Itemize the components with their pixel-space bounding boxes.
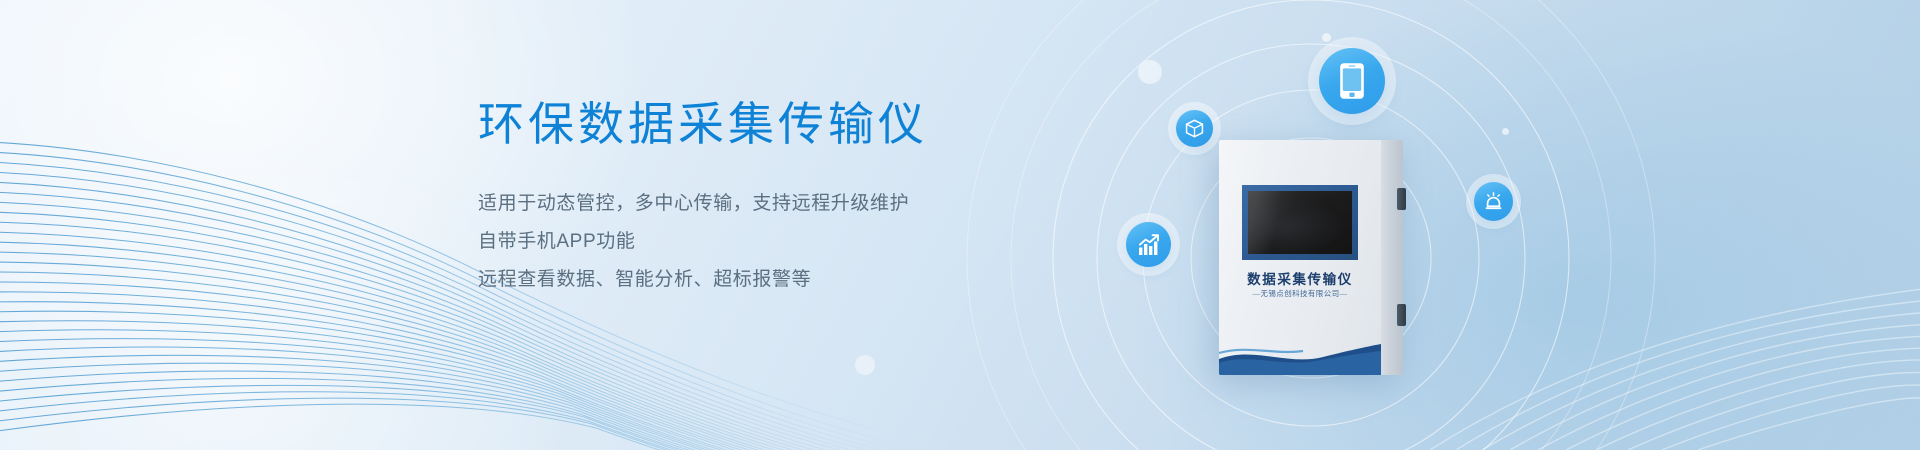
page-title: 环保数据采集传输仪 — [478, 96, 1238, 152]
device-enclosure: 数据采集传输仪 —无锡点创科技有限公司— — [1219, 140, 1403, 375]
decorative-dot — [1502, 128, 1509, 135]
device-brand-label: 数据采集传输仪 — [1219, 268, 1381, 288]
hero-subtitle-line-1: 适用于动态管控，多中心传输，支持远程升级维护 — [478, 185, 1238, 223]
hero-subtitle-line-2: 自带手机APP功能 — [478, 223, 1238, 261]
decorative-dot — [1138, 60, 1162, 84]
bar-chart-icon[interactable] — [1126, 222, 1171, 267]
hero-subtitle-list: 适用于动态管控，多中心传输，支持远程升级维护 自带手机APP功能 远程查看数据、… — [478, 185, 1238, 299]
device-company-label: —无锡点创科技有限公司— — [1219, 288, 1381, 299]
alarm-icon[interactable] — [1474, 182, 1513, 221]
hero-subtitle-line-3: 远程查看数据、智能分析、超标报警等 — [478, 261, 1238, 299]
product-hero-banner: 环保数据采集传输仪 适用于动态管控，多中心传输，支持远程升级维护 自带手机APP… — [0, 0, 1920, 450]
cube-icon[interactable] — [1176, 110, 1213, 147]
device-wave-graphic — [1219, 333, 1381, 375]
device-hinge — [1397, 304, 1406, 326]
smartphone-icon[interactable] — [1319, 48, 1385, 114]
device-screen-bezel — [1242, 185, 1358, 260]
decorative-dot — [1322, 33, 1331, 42]
device-screen — [1248, 191, 1352, 254]
hero-copy-block: 环保数据采集传输仪 适用于动态管控，多中心传输，支持远程升级维护 自带手机APP… — [478, 96, 1238, 299]
data-acquisition-device-photo: 数据采集传输仪 —无锡点创科技有限公司— — [1219, 140, 1403, 375]
device-side-panel — [1381, 140, 1403, 375]
decorative-dot — [855, 355, 875, 375]
device-hinge — [1397, 188, 1406, 210]
